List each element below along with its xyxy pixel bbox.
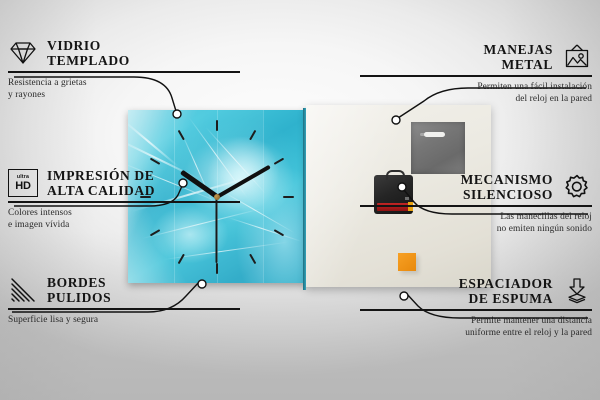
feature-title-line1: MANEJAS (484, 42, 553, 57)
foam-spacer-icon (562, 276, 592, 306)
feature-desc-line1: Resistencia a grietas (8, 78, 87, 88)
feature-title-line1: IMPRESIÓN DE (47, 168, 154, 183)
feature-title-line1: BORDES (47, 275, 106, 290)
feature-vidrio-templado: VIDRIO TEMPLADO Resistencia a grietas y … (8, 38, 240, 101)
feature-heading: MANEJAS METAL (360, 42, 592, 72)
feature-title-line2: TEMPLADO (47, 53, 130, 68)
feature-desc-line2: e imagen vívida (8, 220, 69, 230)
feature-description: Permiten una fácil instalación del reloj… (360, 81, 592, 105)
product-infographic: VIDRIO TEMPLADO Resistencia a grietas y … (0, 0, 600, 400)
feature-divider (360, 205, 592, 206)
feature-mecanismo-silencioso: MECANISMO SILENCIOSO Las manecillas del … (360, 172, 592, 235)
pointer-dot-vidrio-templado (173, 110, 181, 118)
feature-description: Superficie lisa y segura (8, 314, 240, 326)
feature-description: Las manecillas del reloj no emiten ningú… (360, 211, 592, 235)
feature-title: ESPACIADOR DE ESPUMA (459, 276, 553, 306)
feature-impresion-alta-calidad: ultra HD IMPRESIÓN DE ALTA CALIDAD Color… (8, 168, 240, 231)
feature-description: Permite mantener una distancia uniforme … (360, 315, 592, 339)
feature-title: BORDES PULIDOS (47, 275, 111, 305)
feature-title-line2: SILENCIOSO (463, 187, 553, 202)
feature-title: IMPRESIÓN DE ALTA CALIDAD (47, 168, 155, 198)
feature-desc-line2: no emiten ningún sonido (497, 224, 592, 234)
feature-desc-line1: Permite mantener una distancia (471, 316, 592, 326)
feature-desc-line1: Superficie lisa y segura (8, 315, 98, 325)
feature-divider (8, 308, 240, 309)
feature-divider (360, 75, 592, 76)
feature-title: MECANISMO SILENCIOSO (461, 172, 553, 202)
feature-desc-line1: Colores intensos (8, 208, 72, 218)
feature-heading: ultra HD IMPRESIÓN DE ALTA CALIDAD (8, 168, 240, 198)
feature-desc-line1: Permiten una fácil instalación (477, 82, 592, 92)
feature-desc-line2: uniforme entre el reloj y la pared (465, 328, 592, 338)
feature-description: Colores intensos e imagen vívida (8, 207, 240, 231)
feature-title-line2: DE ESPUMA (468, 291, 553, 306)
feature-manejas-metal: MANEJAS METAL Permiten una fácil instala… (360, 42, 592, 105)
feature-title: VIDRIO TEMPLADO (47, 38, 130, 68)
feature-title-line2: METAL (501, 57, 553, 72)
picture-frame-icon (562, 42, 592, 72)
feature-title-line1: VIDRIO (47, 38, 101, 53)
diamond-icon (8, 38, 38, 68)
feature-description: Resistencia a grietas y rayones (8, 77, 240, 101)
feature-divider (360, 309, 592, 310)
feature-espaciador-de-espuma: ESPACIADOR DE ESPUMA Permite mantener un… (360, 276, 592, 339)
feature-title-line2: PULIDOS (47, 290, 111, 305)
feature-title-line1: MECANISMO (461, 172, 553, 187)
feature-desc-line2: del reloj en la pared (515, 94, 592, 104)
polished-edges-icon (8, 275, 38, 305)
gear-icon (562, 172, 592, 202)
feature-heading: VIDRIO TEMPLADO (8, 38, 240, 68)
feature-title: MANEJAS METAL (484, 42, 553, 72)
feature-desc-line2: y rayones (8, 90, 45, 100)
feature-heading: ESPACIADOR DE ESPUMA (360, 276, 592, 306)
feature-divider (8, 201, 240, 202)
feature-title-line2: ALTA CALIDAD (47, 183, 155, 198)
ultra-hd-small-text: ultra (17, 175, 29, 180)
feature-desc-line1: Las manecillas del reloj (500, 212, 592, 222)
feature-heading: BORDES PULIDOS (8, 275, 240, 305)
feature-title-line1: ESPACIADOR (459, 276, 553, 291)
feature-heading: MECANISMO SILENCIOSO (360, 172, 592, 202)
ultra-hd-icon: ultra HD (8, 168, 38, 198)
ultra-hd-large-text: HD (15, 181, 31, 192)
pointer-dot-manejas-metal (392, 116, 400, 124)
feature-divider (8, 71, 240, 72)
ultra-hd-badge: ultra HD (8, 169, 38, 197)
feature-bordes-pulidos: BORDES PULIDOS Superficie lisa y segura (8, 275, 240, 326)
